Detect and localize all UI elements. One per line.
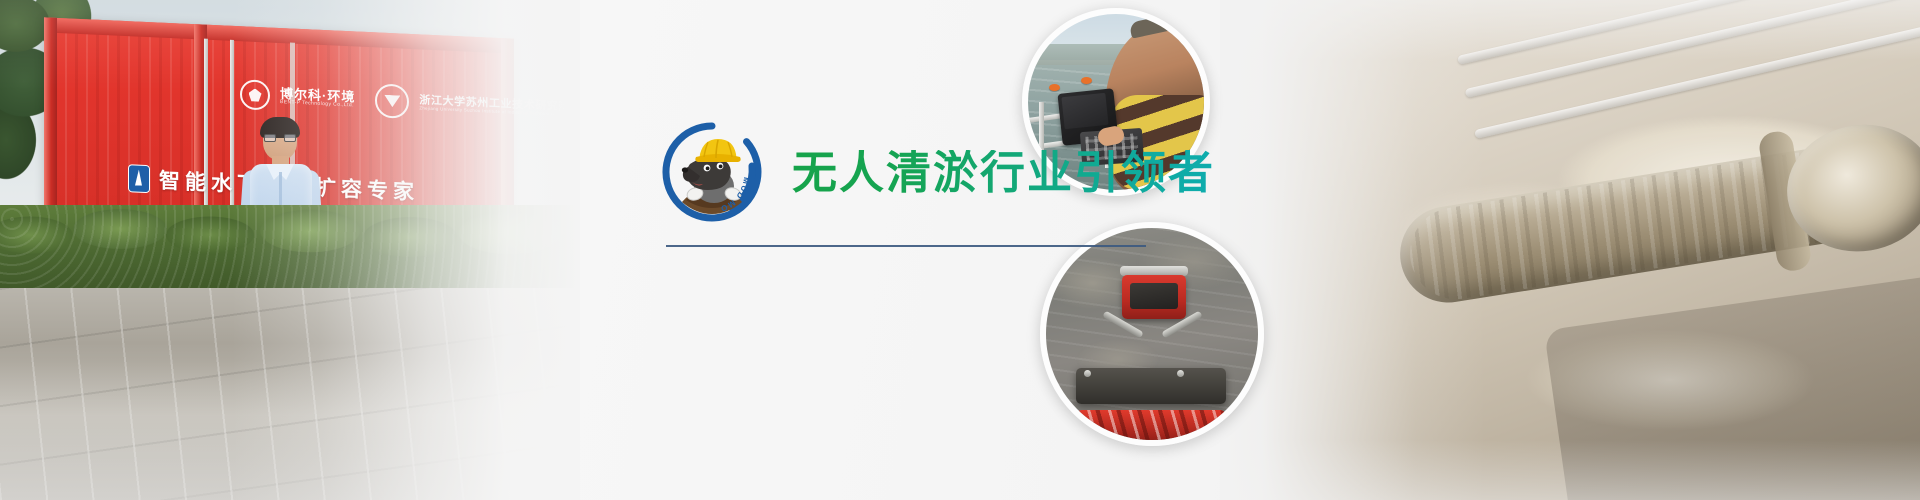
company-name-en: BENT-P Technology Co.,Ltd. [280, 100, 355, 109]
headline-divider [666, 245, 1146, 247]
company-brand-text: 博尔科·环境 BENT-P Technology Co.,Ltd. [280, 87, 355, 109]
center-content: MUD MOLE 无人清淤行业引领者 [660, 0, 1280, 500]
pavement [0, 288, 580, 500]
institute-mark-icon [375, 83, 409, 119]
headline-text: 无人清淤行业引领者 [792, 150, 1215, 195]
hero-banner: 博尔科·环境 BENT-P Technology Co.,Ltd. 浙江大学苏州… [0, 0, 1920, 500]
left-photo: 博尔科·环境 BENT-P Technology Co.,Ltd. 浙江大学苏州… [0, 0, 580, 500]
slogan-badge-icon [128, 164, 150, 193]
right-photo-collage [1220, 0, 1920, 500]
logo-and-headline-row: MUD MOLE 无人清淤行业引领者 [660, 118, 1280, 226]
engineer-glasses [264, 134, 296, 142]
mud-mole-logo: MUD MOLE [660, 120, 764, 224]
company-mark-icon [240, 79, 270, 110]
hedge-row [0, 205, 580, 297]
container-corner-post-left [44, 17, 57, 223]
